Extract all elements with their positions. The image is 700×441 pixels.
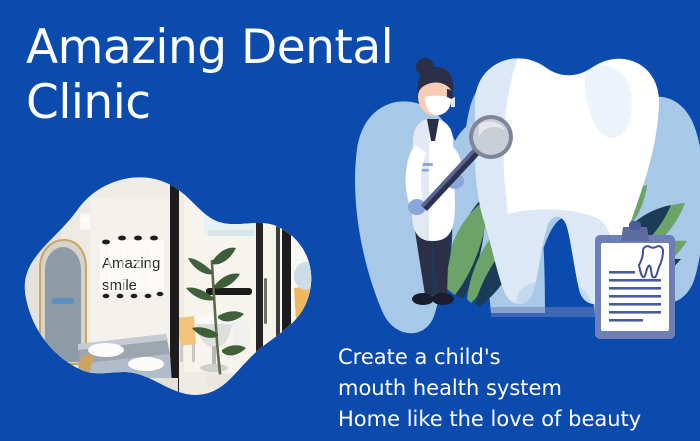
clinic-photo: Amazing smile <box>18 168 318 400</box>
clinic-photo-content: Amazing smile <box>18 168 318 400</box>
shoe-left <box>412 293 434 305</box>
page-title: Amazing Dental Clinic <box>26 20 506 130</box>
poster-canvas: Amazing smile <box>0 0 700 441</box>
tagline-line-3: Home like the love of beauty <box>338 404 694 435</box>
tagline-line-2: mouth health system <box>338 373 694 404</box>
basin-left <box>88 343 124 357</box>
clipboard <box>595 221 675 339</box>
wall-sign-line2: smile <box>102 277 137 294</box>
tagline-line-1: Create a child's <box>338 342 694 373</box>
shoe-right <box>432 293 454 305</box>
tagline-block: Create a child's mouth health system Hom… <box>338 342 694 435</box>
basin-right <box>128 357 164 371</box>
